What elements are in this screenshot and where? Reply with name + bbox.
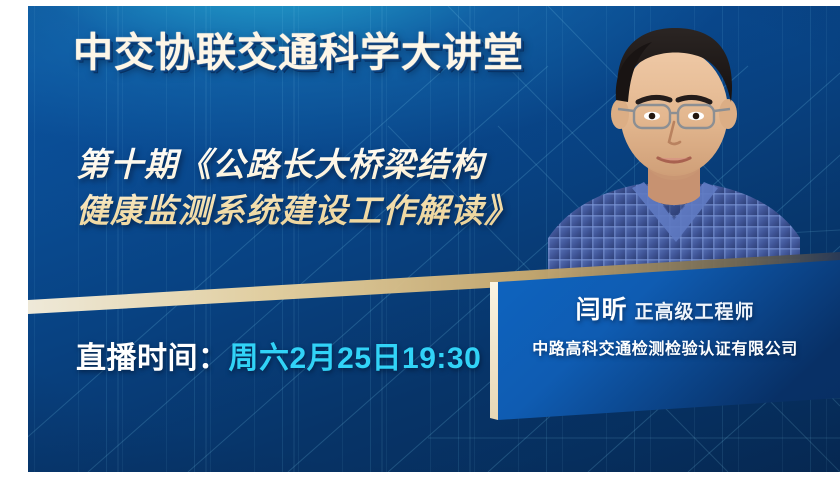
page-title: 中交协联交通科学大讲堂 [73,32,524,75]
live-time-label: 直播时间： [76,342,229,375]
speaker-name: 闫昕 [575,296,627,324]
live-time-value: 周六2月25日19:30 [229,342,482,375]
poster-stage: 中交协联交通科学大讲堂 第十期《公路长大桥梁结构 健康监测系统建设工作解读》 直… [28,6,840,472]
speaker-name-row: 闫昕正高级工程师 [490,298,840,323]
episode-subtitle: 第十期《公路长大桥梁结构 健康监测系统建设工作解读》 [76,142,596,233]
speaker-role: 正高级工程师 [635,302,755,323]
speaker-info: 闫昕正高级工程师 中路高科交通检测检验认证有限公司 [490,298,840,359]
live-time: 直播时间：周六2月25日19:30 [76,333,481,377]
webinar-poster: 中交协联交通科学大讲堂 第十期《公路长大桥梁结构 健康监测系统建设工作解读》 直… [0,0,840,480]
speaker-organization: 中路高科交通检测检验认证有限公司 [490,335,840,359]
